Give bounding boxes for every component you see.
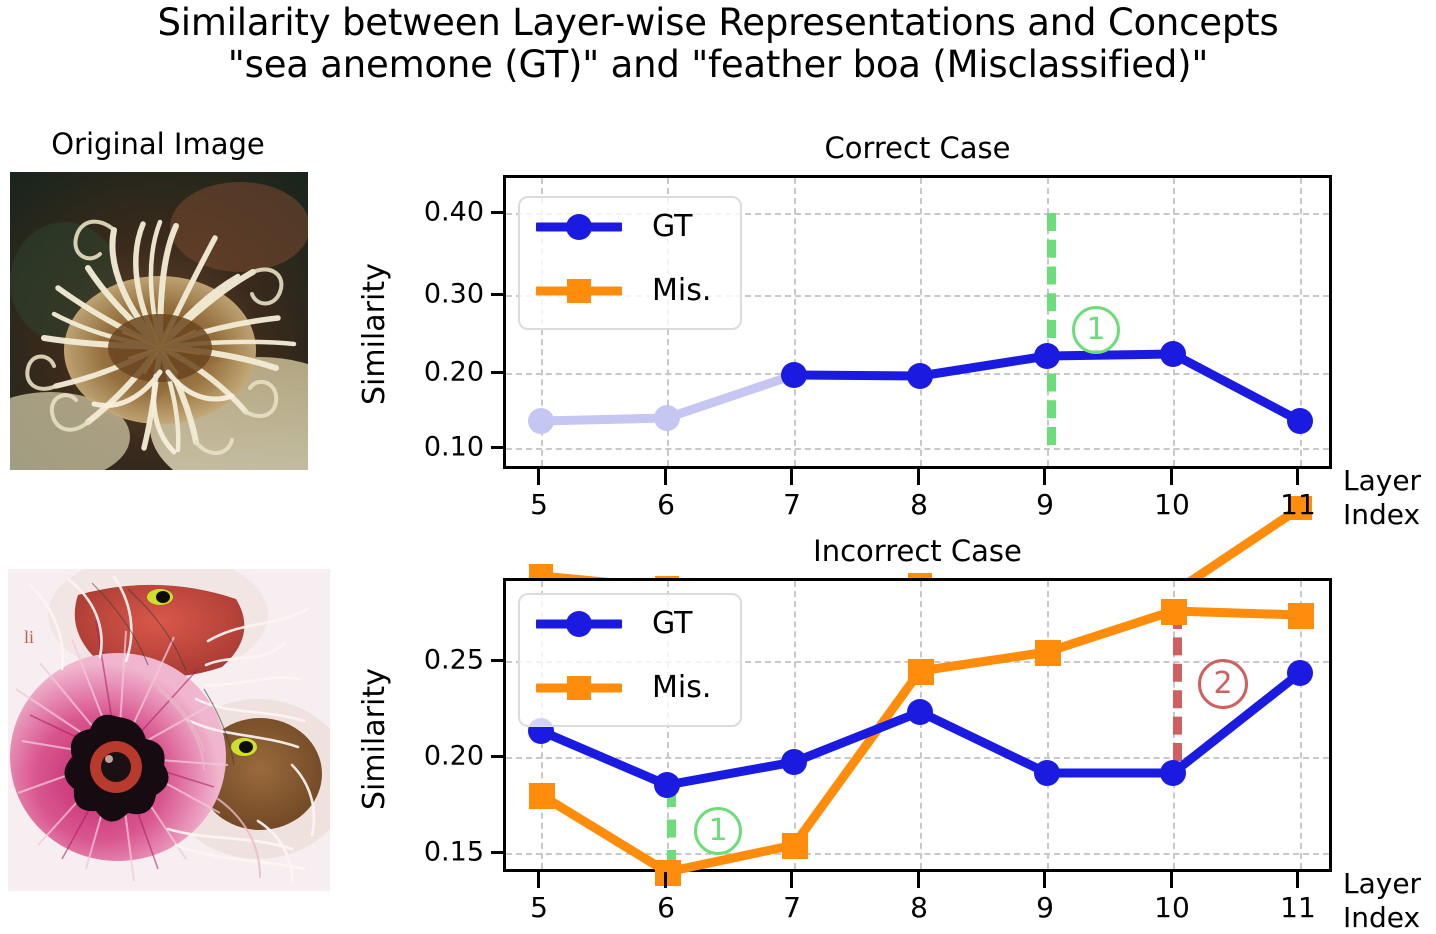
legend-swatch-gt bbox=[536, 609, 622, 639]
correct-case-xlabel-line1: Layer bbox=[1343, 466, 1421, 496]
original-image-label: Original Image bbox=[8, 128, 308, 160]
legend-label-gt: GT bbox=[652, 212, 693, 242]
correct-case-ytick-1: 0.30 bbox=[392, 281, 484, 308]
correct-case-plot-frame: 1 GT Mis. bbox=[503, 175, 1332, 469]
correct-case-xtick-5: 10 bbox=[1154, 491, 1190, 519]
gt-marker bbox=[907, 699, 933, 725]
gt-marker bbox=[1287, 660, 1313, 686]
gt-marker bbox=[1287, 408, 1313, 434]
correct-case-xlabel-line2: Index bbox=[1343, 500, 1420, 530]
incorrect-case-title: Incorrect Case bbox=[503, 535, 1332, 567]
gt-marker bbox=[654, 405, 680, 431]
correct-case-xtick-0: 5 bbox=[530, 491, 548, 519]
figure-title-line1: Similarity between Layer-wise Representa… bbox=[157, 1, 1278, 44]
xtick-mark bbox=[664, 872, 667, 888]
mis-marker bbox=[782, 833, 808, 859]
correct-case-title: Correct Case bbox=[503, 132, 1332, 164]
xtick-mark bbox=[537, 872, 540, 888]
correct-case-xtick-2: 7 bbox=[783, 491, 801, 519]
xtick-mark bbox=[664, 469, 667, 485]
incorrect-case-xtick-0: 5 bbox=[530, 894, 548, 922]
incorrect-case-xtick-2: 7 bbox=[783, 894, 801, 922]
xtick-mark bbox=[1296, 469, 1299, 485]
correct-case-xtick-1: 6 bbox=[657, 491, 675, 519]
legend-swatch-mis bbox=[536, 276, 622, 306]
correct-case-xtick-3: 8 bbox=[910, 491, 928, 519]
gt-marker bbox=[1034, 343, 1060, 369]
annotation-badge-1: 1 bbox=[1072, 306, 1120, 354]
incorrect-case-plot-frame: 1 2 GT Mis. bbox=[503, 578, 1332, 872]
incorrect-case-ytick-2: 0.15 bbox=[392, 839, 484, 866]
figure-title: Similarity between Layer-wise Representa… bbox=[0, 2, 1436, 86]
incorrect-case-xtick-6: 11 bbox=[1280, 894, 1316, 922]
legend-swatch-gt bbox=[536, 212, 622, 242]
svg-text:li: li bbox=[24, 627, 34, 647]
incorrect-case-ytick-0: 0.25 bbox=[392, 647, 484, 674]
mis-marker bbox=[1288, 603, 1314, 629]
incorrect-case-xlabel-line1: Layer bbox=[1343, 869, 1421, 899]
xtick-mark bbox=[537, 469, 540, 485]
mis-marker bbox=[1161, 599, 1187, 625]
figure-title-line2: "sea anemone (GT)" and "feather boa (Mis… bbox=[0, 44, 1436, 86]
correct-case-ytick-2: 0.20 bbox=[392, 359, 484, 386]
xtick-mark bbox=[1296, 872, 1299, 888]
legend-entry-mis: Mis. bbox=[536, 673, 711, 703]
xtick-mark bbox=[790, 469, 793, 485]
legend-label-mis: Mis. bbox=[652, 276, 711, 306]
incorrect-case-xlabel-line2: Index bbox=[1343, 903, 1420, 933]
gt-marker bbox=[781, 749, 807, 775]
correct-case-ytick-0: 0.40 bbox=[392, 199, 484, 226]
xtick-mark bbox=[1043, 872, 1046, 888]
incorrect-case-legend: GT Mis. bbox=[518, 593, 742, 727]
incorrect-case-xtick-4: 9 bbox=[1036, 894, 1054, 922]
mis-marker bbox=[908, 659, 934, 685]
mis-marker bbox=[529, 783, 555, 809]
xtick-mark bbox=[1170, 469, 1173, 485]
correct-case-xtick-6: 11 bbox=[1280, 491, 1316, 519]
gt-marker bbox=[907, 363, 933, 389]
correct-case-ylabel: Similarity bbox=[360, 263, 390, 405]
figure-root: Similarity between Layer-wise Representa… bbox=[0, 0, 1436, 933]
legend-swatch-mis bbox=[536, 673, 622, 703]
incorrect-case-xtick-1: 6 bbox=[657, 894, 675, 922]
gt-marker bbox=[1034, 760, 1060, 786]
legend-label-gt: GT bbox=[652, 609, 693, 639]
gt-marker bbox=[528, 408, 554, 434]
incorrect-case-ylabel: Similarity bbox=[360, 668, 390, 810]
gt-line-faded bbox=[541, 418, 667, 421]
correct-case-plot-area: 1 GT Mis. bbox=[506, 178, 1329, 466]
xtick-mark bbox=[1170, 872, 1173, 888]
sea-anemone-photo bbox=[10, 172, 308, 470]
legend-label-mis: Mis. bbox=[652, 673, 711, 703]
gt-marker bbox=[654, 772, 680, 798]
incorrect-case-plot-area: 1 2 GT Mis. bbox=[506, 581, 1329, 869]
correct-case-xtick-4: 9 bbox=[1036, 491, 1054, 519]
xtick-mark bbox=[790, 872, 793, 888]
gt-marker bbox=[1160, 760, 1186, 786]
gt-marker bbox=[781, 362, 807, 388]
annotation-badge-1: 1 bbox=[694, 807, 742, 855]
mis-marker bbox=[655, 860, 681, 886]
mis-marker bbox=[1035, 640, 1061, 666]
correct-case-legend: GT Mis. bbox=[518, 196, 742, 330]
gt-line-faded2 bbox=[667, 375, 794, 418]
incorrect-case-xtick-5: 10 bbox=[1154, 894, 1190, 922]
legend-entry-gt: GT bbox=[536, 609, 693, 639]
gt-marker bbox=[1160, 341, 1186, 367]
feather-boa-photo: li bbox=[8, 569, 330, 891]
xtick-mark bbox=[917, 469, 920, 485]
xtick-mark bbox=[917, 872, 920, 888]
correct-case-ytick-3: 0.10 bbox=[392, 434, 484, 461]
legend-entry-mis: Mis. bbox=[536, 276, 711, 306]
annotation-badge-2: 2 bbox=[1198, 659, 1248, 709]
incorrect-case-xtick-3: 8 bbox=[910, 894, 928, 922]
legend-entry-gt: GT bbox=[536, 212, 693, 242]
incorrect-case-ytick-1: 0.20 bbox=[392, 743, 484, 770]
xtick-mark bbox=[1043, 469, 1046, 485]
